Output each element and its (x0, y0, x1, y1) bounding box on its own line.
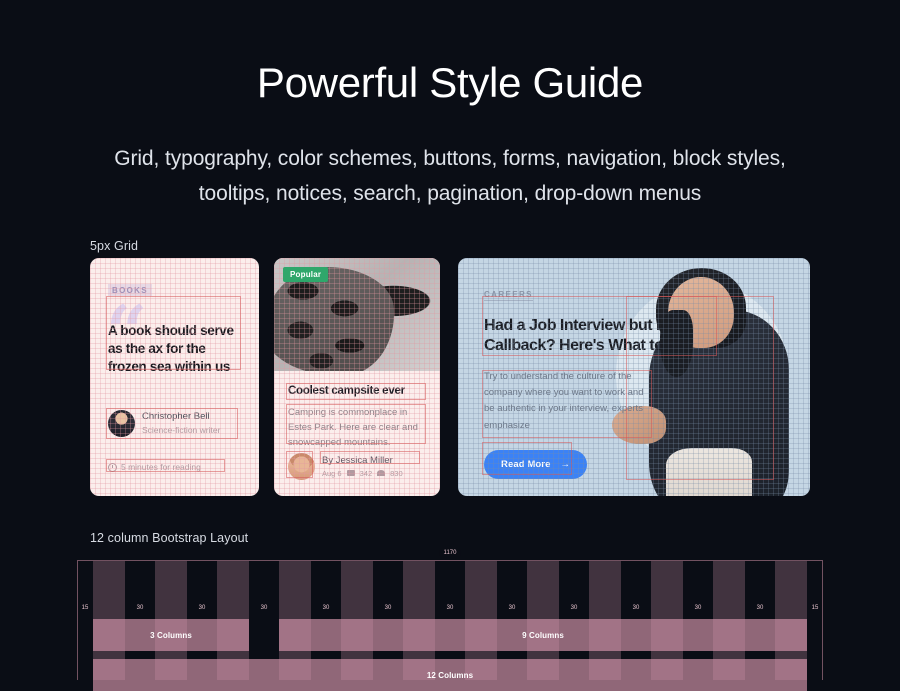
quote-card[interactable]: BOOKS “ A book should serve as the ax fo… (90, 258, 259, 496)
gutter-label: 30 (695, 605, 702, 611)
author-name: Christopher Bell (142, 410, 220, 424)
card-row: BOOKS “ A book should serve as the ax fo… (0, 258, 900, 498)
gutter-label-edge-left: 15 (82, 605, 89, 611)
campsite-meta: By Jessica Miller Aug 6 342 830 (288, 453, 403, 480)
grid-block-label: 9 Columns (522, 631, 564, 640)
gutter-label: 30 (199, 605, 206, 611)
page-title: Powerful Style Guide (0, 58, 900, 108)
gutter-label: 30 (323, 605, 330, 611)
careers-title: Had a Job Interview but No Callback? Her… (484, 316, 698, 356)
gutter-label: 30 (137, 605, 144, 611)
grid-block-label: 12 Columns (427, 671, 473, 680)
avatar (288, 453, 315, 480)
grid-row-3-9: 3 Columns 9 Columns (78, 619, 822, 651)
gutter-label: 30 (385, 605, 392, 611)
author-role: Science-fiction writer (142, 424, 220, 437)
author-row: Christopher Bell Science-fiction writer (108, 410, 220, 437)
gutter-label: 30 (509, 605, 516, 611)
campsite-title: Coolest campsite ever (288, 385, 426, 397)
arrow-right-icon: → (560, 459, 570, 470)
read-time: 5 minutes for reading (108, 462, 201, 472)
container-width-label: 1170 (440, 550, 461, 556)
section-label-bootstrap: 12 column Bootstrap Layout (90, 531, 248, 545)
page-subtitle: Grid, typography, color schemes, buttons… (78, 142, 823, 211)
grid-block-3-columns: 3 Columns (78, 619, 264, 651)
campsite-card[interactable]: Popular Coolest campsite ever Camping is… (274, 258, 440, 496)
quote-text: A book should serve as the ax for the fr… (108, 322, 241, 375)
views-count: 342 (360, 468, 373, 479)
gutter-label: 30 (571, 605, 578, 611)
read-more-button[interactable]: Read More → (484, 450, 587, 479)
hero-section: Powerful Style Guide Grid, typography, c… (0, 0, 900, 212)
section-label-5px-grid: 5px Grid (90, 239, 138, 253)
category-badge-careers[interactable]: CAREERS (484, 290, 533, 301)
likes-icon (377, 470, 385, 476)
likes-count: 830 (390, 468, 403, 479)
campsite-stats: Aug 6 342 830 (322, 468, 403, 479)
campsite-description: Camping is commonplace in Estes Park. He… (288, 405, 426, 450)
grid-row-12: 12 Columns (78, 659, 822, 691)
views-icon (347, 470, 355, 476)
read-more-label: Read More (501, 459, 550, 470)
careers-card[interactable]: CAREERS Had a Job Interview but No Callb… (458, 258, 810, 496)
grid-rows: 3 Columns 9 Columns 12 Columns (78, 561, 822, 680)
gutter-label: 30 (633, 605, 640, 611)
grid-block-12-columns: 12 Columns (78, 659, 822, 691)
read-time-label: 5 minutes for reading (121, 462, 201, 472)
campsite-author: By Jessica Miller (322, 454, 403, 468)
publish-date: Aug 6 (322, 468, 342, 479)
popular-badge[interactable]: Popular (283, 267, 328, 282)
grid-block-9-columns: 9 Columns (264, 619, 822, 651)
bootstrap-grid: 1170 3 Columns 9 Columns 12 Columns 1530… (77, 560, 823, 680)
gutter-label-edge-right: 15 (812, 605, 819, 611)
gutter-label: 30 (757, 605, 764, 611)
clock-icon (108, 463, 117, 472)
grid-block-label: 3 Columns (150, 631, 192, 640)
avatar (108, 410, 135, 437)
careers-description: Try to understand the culture of the com… (484, 369, 652, 434)
gutter-label: 30 (447, 605, 454, 611)
gutter-label: 30 (261, 605, 268, 611)
